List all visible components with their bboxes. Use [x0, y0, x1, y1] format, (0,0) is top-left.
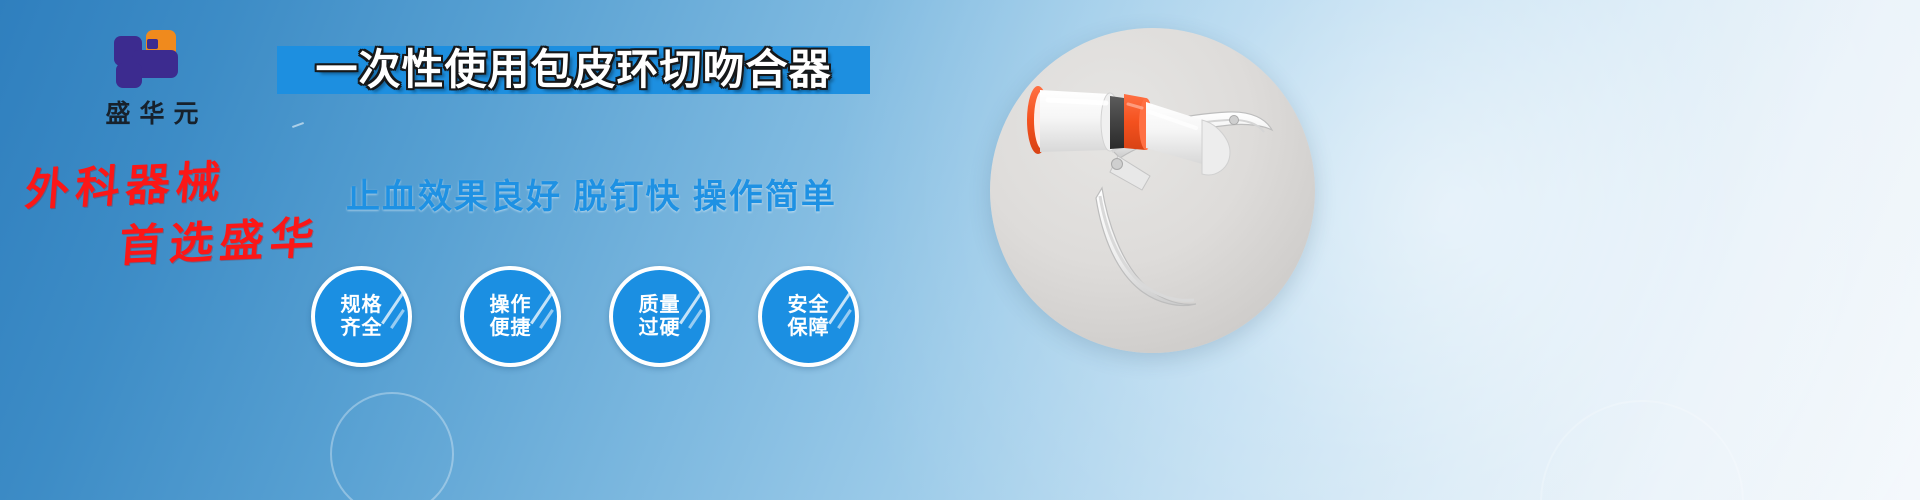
- feature-badge-specifications[interactable]: 规格 齐全: [311, 266, 412, 367]
- feature-label-line1: 安全: [788, 294, 830, 316]
- slash-decoration-icon: [679, 290, 704, 325]
- feature-label-line2: 过硬: [639, 317, 681, 339]
- feature-badge-safety[interactable]: 安全 保障: [758, 266, 859, 367]
- promo-banner: 盛华元 外科器械 首选盛华 一次性使用包皮环切吻合器 止血效果良好 脱钉快 操作…: [0, 0, 1920, 500]
- calligraphy-line-1: 外科器械: [23, 146, 229, 219]
- calligraphy-line-2: 首选盛华: [117, 202, 323, 275]
- slash-decoration-icon: [390, 309, 405, 329]
- logo-mark-icon: [114, 30, 190, 88]
- title-bar: 一次性使用包皮环切吻合器: [277, 46, 870, 94]
- decorative-ring: [1540, 400, 1744, 500]
- decorative-ring: [330, 392, 454, 500]
- slash-decoration-icon: [688, 309, 703, 329]
- feature-label-line2: 便捷: [490, 317, 532, 339]
- feature-label-line2: 齐全: [341, 317, 383, 339]
- feature-label-line1: 质量: [639, 294, 681, 316]
- slash-decoration-icon: [530, 290, 555, 325]
- product-title: 一次性使用包皮环切吻合器: [315, 49, 831, 91]
- logo-notch: [147, 39, 158, 49]
- product-subtitle: 止血效果良好 脱钉快 操作简单: [346, 169, 837, 218]
- feature-badge-list: 规格 齐全 操作 便捷 质量 过硬 安全 保障: [311, 266, 859, 367]
- slash-decoration-icon: [828, 290, 853, 325]
- product-image[interactable]: [990, 28, 1315, 353]
- slash-decoration-icon: [539, 309, 554, 329]
- feature-label-line2: 保障: [788, 317, 830, 339]
- feature-badge-quality[interactable]: 质量 过硬: [609, 266, 710, 367]
- feature-label-line1: 操作: [490, 294, 532, 316]
- slash-decoration-icon: [837, 309, 852, 329]
- stapler-illustration-icon: [990, 28, 1315, 353]
- feature-label-line1: 规格: [341, 294, 383, 316]
- logo-square-purple-bottom: [116, 63, 142, 88]
- company-logo[interactable]: 盛华元: [62, 30, 242, 130]
- slash-decoration-icon: [381, 290, 406, 325]
- calligraphy-slogan: 外科器械 首选盛华: [20, 150, 340, 260]
- sparkle-icon: [292, 122, 304, 128]
- company-name: 盛华元: [62, 94, 242, 130]
- feature-badge-operation[interactable]: 操作 便捷: [460, 266, 561, 367]
